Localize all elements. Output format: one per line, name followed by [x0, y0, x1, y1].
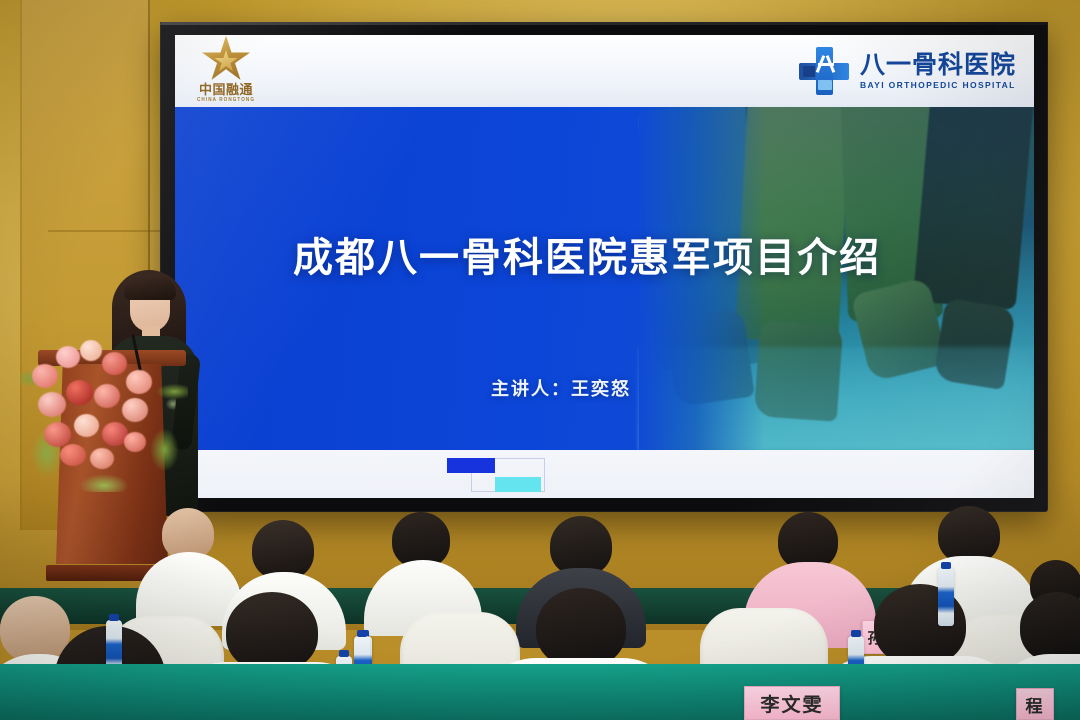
presentation-screen[interactable]: 中国融通 CHINA RONGTONG 八一骨科医院 [160, 22, 1048, 512]
door-panel-line [48, 230, 166, 232]
screen-bezel-highlight [160, 22, 1048, 25]
water-bottle[interactable] [938, 568, 954, 626]
slide-body: 成都八一骨科医院惠军项目介绍 主讲人：王奕怒 [175, 107, 1034, 450]
slide-header-band: 中国融通 CHINA RONGTONG 八一骨科医院 [175, 35, 1034, 107]
podium-flower-bouquet [26, 336, 182, 486]
footer-deco-cyan-rect [495, 477, 541, 492]
audience-member [370, 512, 474, 628]
bayi-hospital-logo: 八一骨科医院 BAYI ORTHOPEDIC HOSPITAL [799, 47, 1016, 95]
front-table-row [0, 664, 1080, 720]
slide-footer-band [175, 450, 1034, 498]
slide-surface: 中国融通 CHINA RONGTONG 八一骨科医院 [175, 35, 1034, 498]
medical-cross-icon [799, 47, 849, 95]
nameplate-text: 程 [1026, 692, 1045, 717]
bayi-logo-en: BAYI ORTHOPEDIC HOSPITAL [860, 80, 1016, 90]
china-rongtong-logo: 中国融通 CHINA RONGTONG [197, 40, 255, 103]
nameplate-text: 李文雯 [760, 690, 823, 717]
bayi-logo-cn: 八一骨科医院 [860, 53, 1016, 78]
rongtong-logo-en: CHINA RONGTONG [197, 97, 255, 103]
slide-presenter-line: 主讲人：王奕怒 [491, 375, 631, 401]
nameplate-card: 李文雯 [744, 686, 840, 720]
nameplate-card: 程 [1016, 688, 1054, 720]
footer-deco-blue-rect [447, 458, 495, 473]
rongtong-logo-cn: 中国融通 [199, 83, 253, 97]
conference-hall-scene: 中国融通 CHINA RONGTONG 八一骨科医院 [0, 0, 1080, 720]
slide-title: 成都八一骨科医院惠军项目介绍 [293, 225, 881, 283]
gold-star-icon [200, 40, 252, 82]
